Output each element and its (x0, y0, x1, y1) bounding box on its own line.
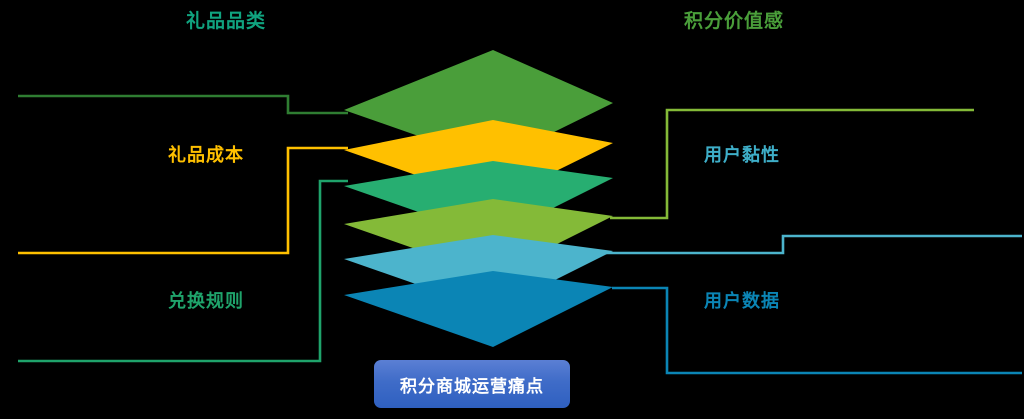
layer-dark-blue[interactable] (344, 271, 613, 347)
header-right-points-value: 积分价值感 (684, 6, 784, 33)
label-user-data: 用户数据 (704, 287, 780, 313)
header-left-gift-category: 礼品品类 (186, 6, 266, 33)
diagram-canvas: 礼品品类 积分价值感 礼品成本 兑换规则 用户黏性 用户数据 积分商城运营痛点 (0, 0, 1024, 419)
label-gift-cost: 礼品成本 (168, 141, 244, 167)
bottom-summary-box[interactable]: 积分商城运营痛点 (374, 360, 570, 408)
layer-stack (0, 0, 1024, 419)
label-exchange-rules: 兑换规则 (168, 287, 244, 313)
label-user-stickiness: 用户黏性 (704, 141, 780, 167)
bottom-summary-label: 积分商城运营痛点 (400, 372, 544, 397)
